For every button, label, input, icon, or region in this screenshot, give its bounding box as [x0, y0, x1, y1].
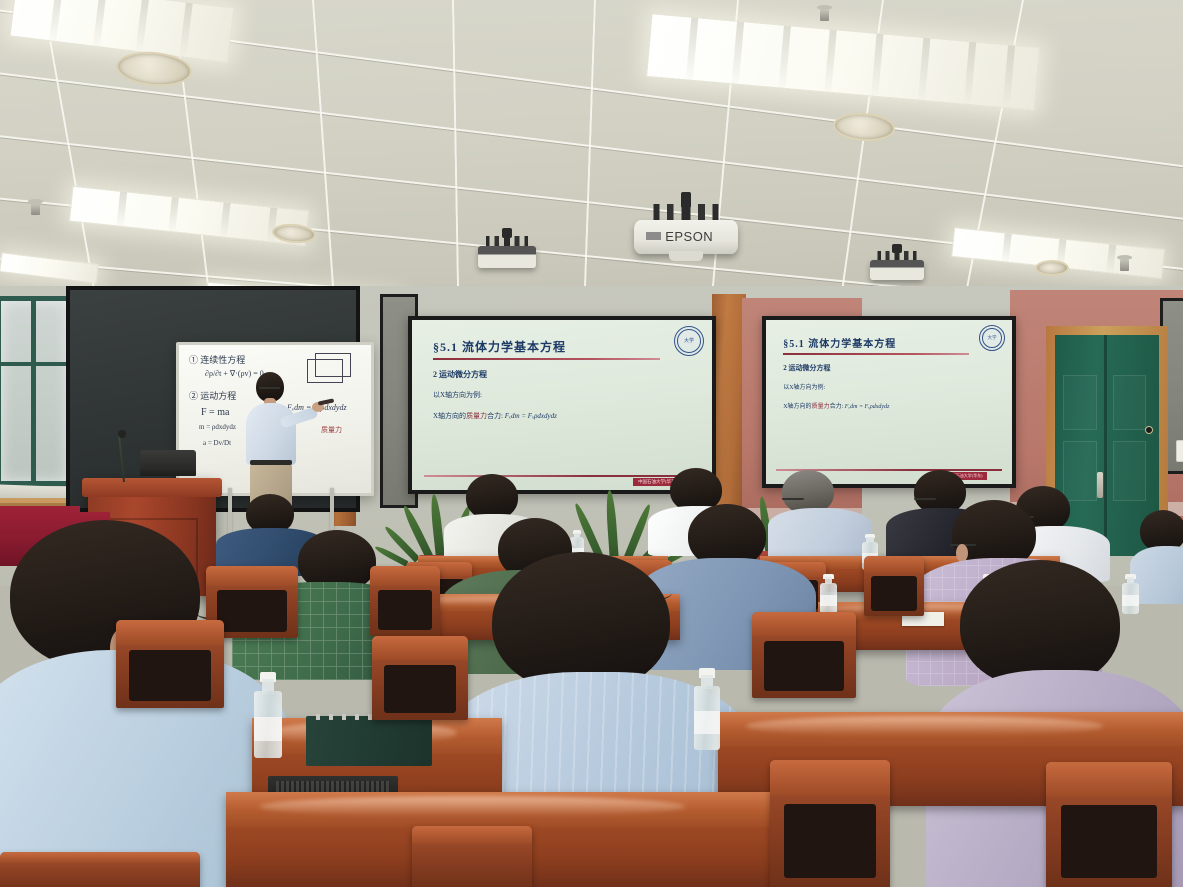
chair-opening — [378, 590, 431, 631]
chair-cap — [864, 556, 924, 573]
window-mullion — [31, 301, 36, 481]
slide-section: 2 运动微分方程 — [433, 369, 697, 380]
fire-sprinkler — [820, 8, 829, 21]
window-mullion — [1, 362, 67, 366]
water-bottle[interactable] — [820, 574, 837, 614]
projector-right — [866, 244, 928, 280]
slide-title: §5.1 流体力学基本方程 — [433, 338, 697, 355]
audience-chair — [372, 636, 468, 720]
audience-chair — [752, 612, 856, 698]
whiteboard-cube-diagram — [315, 353, 351, 377]
chair-cap — [372, 636, 468, 660]
chair-cap — [116, 620, 224, 645]
projector-body — [870, 260, 924, 280]
whiteboard-line: ① 连续性方程 — [189, 353, 245, 366]
light-switch-plate[interactable] — [1176, 440, 1183, 462]
slide-right: §5.1 流体力学基本方程 2 运动微分方程 以X轴方向为例: X轴方向的质量力… — [766, 320, 1012, 484]
slide-line-2-prefix: X轴方向的 — [433, 412, 466, 420]
slide-line-2: X轴方向的质量力合力: Fₓdm = Fₓρdxdydz — [433, 411, 697, 421]
water-bottle[interactable] — [694, 668, 720, 750]
chair-cap — [752, 612, 856, 636]
slide-equation: Fₓdm = Fₓρdxdydz — [845, 404, 890, 410]
lecture-hall-photo: EPSON ① 连续性方程 ∂ρ — [0, 0, 1183, 887]
whiteboard-line: m = ρdxdydz — [199, 423, 236, 431]
slide-line-2-prefix: X轴方向的 — [783, 404, 811, 410]
door-panel — [1063, 375, 1096, 430]
glasses-icon — [782, 498, 804, 500]
slide-line-2: X轴方向的质量力合力: Fₓdm = Fₓρdxdydz — [783, 401, 999, 410]
foreground-chair — [1046, 762, 1172, 887]
slide-section: 2 运动微分方程 — [783, 363, 999, 373]
chair-cap — [1046, 762, 1172, 797]
whiteboard-line: F = ma — [201, 407, 229, 418]
slide-title-rule — [433, 358, 660, 360]
door-panel — [1113, 375, 1146, 430]
slide-line-2-suffix: 合力: — [830, 404, 844, 410]
chair-opening — [1061, 805, 1157, 878]
foreground-chair — [412, 826, 532, 887]
podium-top — [82, 478, 223, 497]
chair-opening — [871, 576, 917, 611]
whiteboard-note: 质量力 — [321, 425, 342, 435]
projector-epson: EPSON — [634, 192, 738, 254]
fire-sprinkler — [1120, 258, 1129, 271]
projector-lens — [669, 251, 702, 261]
slide-line-2-accent: 质量力 — [466, 412, 487, 420]
chair-cap — [370, 566, 440, 586]
fire-sprinkler — [31, 202, 40, 215]
slide-equation: Fₓdm = Fₓρdxdydz — [505, 412, 557, 420]
slide-line-2-suffix: 合力: — [487, 412, 503, 420]
door-panel — [1113, 441, 1146, 500]
bottle-label — [254, 717, 282, 741]
presenter-shirt — [246, 403, 296, 465]
slide-line-1: 以X轴方向为例: — [783, 382, 999, 391]
podium-monitor[interactable] — [140, 450, 196, 476]
window-left — [0, 296, 72, 486]
projector-body: EPSON — [634, 220, 738, 254]
foreground-chair — [0, 852, 200, 887]
seal-inner-ring: 大学 — [982, 328, 1003, 349]
chair-cap — [412, 826, 532, 844]
door-peephole — [1145, 426, 1153, 434]
bottle-label — [694, 711, 720, 734]
audience-chair — [370, 566, 440, 636]
presenter-belt — [250, 460, 292, 465]
microphone-head — [118, 430, 126, 438]
chair-opening — [784, 804, 875, 878]
epson-logo-mark — [646, 232, 661, 240]
chair-opening — [129, 650, 211, 701]
head — [960, 560, 1120, 688]
screen-surface: §5.1 流体力学基本方程 2 运动微分方程 以X轴方向为例: X轴方向的质量力… — [766, 320, 1012, 484]
ceiling-speaker — [1035, 260, 1069, 276]
slide-line-1: 以X轴方向为例: — [433, 390, 697, 400]
projector-brand-label: EPSON — [665, 229, 713, 244]
audience-chair — [116, 620, 224, 708]
presenter-glasses-icon — [259, 387, 280, 389]
slide-title-rule — [783, 353, 969, 355]
chair-cap — [0, 852, 200, 863]
whiteboard-line: ② 运动方程 — [189, 389, 236, 402]
chair-cap — [770, 760, 890, 796]
whiteboard-leg — [330, 488, 334, 532]
projector-body — [478, 246, 536, 268]
head — [492, 552, 670, 692]
foreground-chair — [770, 760, 890, 887]
slide-line-2-accent: 质量力 — [812, 404, 830, 410]
water-bottle[interactable] — [254, 672, 282, 758]
university-seal-icon: 大学 — [674, 326, 704, 356]
whiteboard-line: a = Dv/Dt — [203, 439, 231, 447]
bottle-label — [820, 595, 837, 606]
audience-chair — [864, 556, 924, 616]
ceiling: EPSON — [0, 0, 1183, 330]
projector-left — [474, 228, 540, 268]
seal-inner-ring: 大学 — [677, 329, 701, 353]
chair-opening — [764, 641, 843, 691]
chair-opening — [384, 665, 457, 714]
university-seal-icon: 大学 — [979, 325, 1005, 351]
slide-title: §5.1 流体力学基本方程 — [783, 335, 999, 350]
desk-highlight — [260, 796, 686, 817]
projection-screen-right: §5.1 流体力学基本方程 2 运动微分方程 以X轴方向为例: X轴方向的质量力… — [762, 316, 1016, 488]
